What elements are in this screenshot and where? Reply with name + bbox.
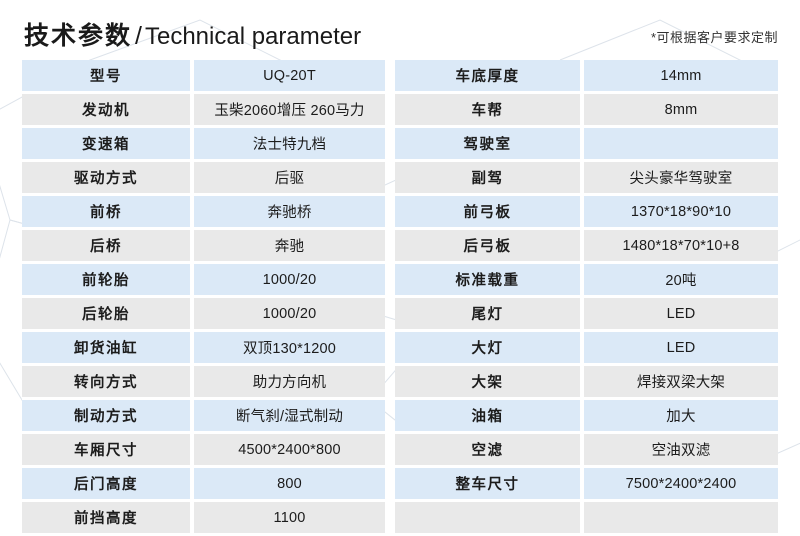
spec-value: 1000/20 [190, 264, 385, 298]
spec-value: 奔驰桥 [190, 196, 385, 230]
spec-label: 车厢尺寸 [22, 434, 190, 468]
table-row: 卸货油缸双顶130*1200 [22, 332, 385, 366]
spec-table-left: 型号UQ-20T发动机玉柴2060增压 260马力变速箱法士特九档驱动方式后驱前… [22, 60, 385, 536]
table-row: 后桥奔驰 [22, 230, 385, 264]
spec-label: 整车尺寸 [395, 468, 580, 502]
spec-value: 断气刹/湿式制动 [190, 400, 385, 434]
spec-label: 转向方式 [22, 366, 190, 400]
table-row: 大架焊接双梁大架 [395, 366, 778, 400]
spec-label: 前桥 [22, 196, 190, 230]
spec-value [580, 128, 778, 162]
spec-label: 大架 [395, 366, 580, 400]
spec-label [395, 502, 580, 536]
spec-label: 后轮胎 [22, 298, 190, 332]
spec-value: 加大 [580, 400, 778, 434]
spec-value: 焊接双梁大架 [580, 366, 778, 400]
spec-label: 驱动方式 [22, 162, 190, 196]
spec-value: 助力方向机 [190, 366, 385, 400]
table-row: 后门高度800 [22, 468, 385, 502]
page-title: 技术参数/Technical parameter [24, 16, 361, 52]
table-row: 副驾尖头豪华驾驶室 [395, 162, 778, 196]
table-row: 前轮胎1000/20 [22, 264, 385, 298]
page-title-english: Technical parameter [145, 23, 361, 50]
spec-value: 空油双滤 [580, 434, 778, 468]
table-row: 后弓板1480*18*70*10+8 [395, 230, 778, 264]
table-row: 标准载重20吨 [395, 264, 778, 298]
table-row: 车帮8mm [395, 94, 778, 128]
spec-value: LED [580, 298, 778, 332]
table-row: 车底厚度14mm [395, 60, 778, 94]
spec-label: 后弓板 [395, 230, 580, 264]
spec-label: 油箱 [395, 400, 580, 434]
table-row: 驾驶室 [395, 128, 778, 162]
table-row: 油箱加大 [395, 400, 778, 434]
spec-value: 后驱 [190, 162, 385, 196]
spec-label: 尾灯 [395, 298, 580, 332]
table-row: 前挡高度1100 [22, 502, 385, 536]
table-row: 空滤空油双滤 [395, 434, 778, 468]
spec-table-left-body: 型号UQ-20T发动机玉柴2060增压 260马力变速箱法士特九档驱动方式后驱前… [22, 60, 385, 536]
spec-value: 法士特九档 [190, 128, 385, 162]
spec-table-right: 车底厚度14mm车帮8mm驾驶室副驾尖头豪华驾驶室前弓板1370*18*90*1… [395, 60, 778, 536]
table-row [395, 502, 778, 536]
spec-value: 1480*18*70*10+8 [580, 230, 778, 264]
spec-label: 后门高度 [22, 468, 190, 502]
spec-sheet-page: 技术参数/Technical parameter *可根据客户要求定制 型号UQ… [0, 0, 800, 521]
table-row: 整车尺寸7500*2400*2400 [395, 468, 778, 502]
page-title-chinese: 技术参数 [24, 22, 132, 50]
spec-value: 双顶130*1200 [190, 332, 385, 366]
spec-label: 驾驶室 [395, 128, 580, 162]
spec-value: 奔驰 [190, 230, 385, 264]
table-row: 型号UQ-20T [22, 60, 385, 94]
table-row: 车厢尺寸4500*2400*800 [22, 434, 385, 468]
spec-value: UQ-20T [190, 60, 385, 94]
customization-note: *可根据客户要求定制 [651, 27, 778, 46]
table-row: 尾灯LED [395, 298, 778, 332]
table-row: 变速箱法士特九档 [22, 128, 385, 162]
spec-label: 副驾 [395, 162, 580, 196]
spec-label: 发动机 [22, 94, 190, 128]
spec-value: 1100 [190, 502, 385, 536]
table-row: 前弓板1370*18*90*10 [395, 196, 778, 230]
spec-value: 1000/20 [190, 298, 385, 332]
spec-value [580, 502, 778, 536]
table-row: 制动方式断气刹/湿式制动 [22, 400, 385, 434]
page-header: 技术参数/Technical parameter *可根据客户要求定制 [0, 0, 800, 60]
spec-value: 800 [190, 468, 385, 502]
page-title-separator: / [135, 22, 142, 50]
spec-label: 卸货油缸 [22, 332, 190, 366]
spec-label: 前弓板 [395, 196, 580, 230]
spec-label: 车底厚度 [395, 60, 580, 94]
spec-label: 变速箱 [22, 128, 190, 162]
spec-label: 前挡高度 [22, 502, 190, 536]
table-row: 后轮胎1000/20 [22, 298, 385, 332]
spec-label: 后桥 [22, 230, 190, 264]
spec-value: LED [580, 332, 778, 366]
spec-value: 20吨 [580, 264, 778, 298]
spec-label: 大灯 [395, 332, 580, 366]
table-row: 大灯LED [395, 332, 778, 366]
spec-label: 前轮胎 [22, 264, 190, 298]
spec-value: 8mm [580, 94, 778, 128]
spec-table-right-body: 车底厚度14mm车帮8mm驾驶室副驾尖头豪华驾驶室前弓板1370*18*90*1… [395, 60, 778, 536]
spec-label: 型号 [22, 60, 190, 94]
spec-label: 制动方式 [22, 400, 190, 434]
spec-value: 7500*2400*2400 [580, 468, 778, 502]
spec-value: 14mm [580, 60, 778, 94]
table-row: 转向方式助力方向机 [22, 366, 385, 400]
spec-value: 1370*18*90*10 [580, 196, 778, 230]
spec-value: 玉柴2060增压 260马力 [190, 94, 385, 128]
table-row: 前桥奔驰桥 [22, 196, 385, 230]
spec-value: 尖头豪华驾驶室 [580, 162, 778, 196]
table-row: 驱动方式后驱 [22, 162, 385, 196]
spec-label: 车帮 [395, 94, 580, 128]
table-row: 发动机玉柴2060增压 260马力 [22, 94, 385, 128]
spec-value: 4500*2400*800 [190, 434, 385, 468]
spec-label: 标准载重 [395, 264, 580, 298]
spec-label: 空滤 [395, 434, 580, 468]
